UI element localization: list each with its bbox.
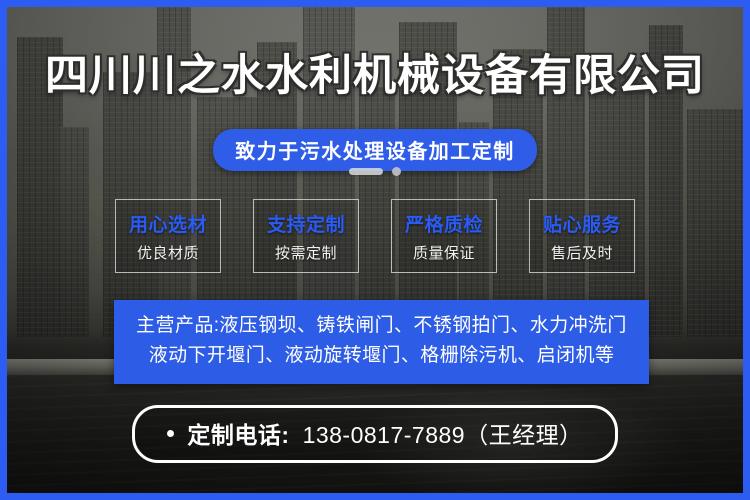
feature-title: 支持定制	[267, 210, 345, 237]
subtitle-container: 致力于污水处理设备加工定制	[7, 129, 743, 171]
carousel-indicator-inactive[interactable]	[392, 167, 401, 176]
contact-container: 定制电话: 138-0817-7889（王经理）	[7, 405, 743, 463]
feature-card-customization: 支持定制 按需定制	[253, 199, 359, 273]
products-line-2: 液动下开堰门、液动旋转堰门、格栅除污机、启闭机等	[120, 341, 643, 371]
products-line-1: 主营产品:液压钢坝、铸铁闸门、不锈钢拍门、水力冲洗门	[120, 311, 643, 341]
contact-label: 定制电话:	[187, 416, 289, 450]
contact-phone-number[interactable]: 138-0817-7889（王经理）	[303, 416, 583, 450]
bullet-dot-icon	[167, 430, 174, 437]
contact-phone-pill[interactable]: 定制电话: 138-0817-7889（王经理）	[132, 405, 617, 463]
promo-banner: 四川川之水水利机械设备有限公司 致力于污水处理设备加工定制 用心选材 优良材质 …	[0, 0, 750, 500]
feature-title: 严格质检	[405, 210, 483, 237]
feature-title: 用心选材	[129, 210, 207, 237]
main-products-banner: 主营产品:液压钢坝、铸铁闸门、不锈钢拍门、水力冲洗门 液动下开堰门、液动旋转堰门…	[114, 300, 649, 384]
feature-subtitle: 按需定制	[275, 242, 337, 263]
carousel-indicators[interactable]	[7, 167, 743, 176]
carousel-indicator-active[interactable]	[349, 168, 383, 175]
company-subtitle-pill: 致力于污水处理设备加工定制	[213, 129, 537, 171]
company-title: 四川川之水水利机械设备有限公司	[7, 41, 743, 103]
feature-title: 贴心服务	[543, 210, 621, 237]
feature-subtitle: 优良材质	[137, 242, 199, 263]
banner-content: 四川川之水水利机械设备有限公司 致力于污水处理设备加工定制 用心选材 优良材质 …	[7, 7, 743, 493]
feature-list: 用心选材 优良材质 支持定制 按需定制 严格质检 质量保证 贴心服务 售后及时	[7, 199, 743, 273]
feature-card-material: 用心选材 优良材质	[115, 199, 221, 273]
feature-subtitle: 售后及时	[551, 242, 613, 263]
feature-subtitle: 质量保证	[413, 242, 475, 263]
feature-card-inspection: 严格质检 质量保证	[391, 199, 497, 273]
feature-card-service: 贴心服务 售后及时	[529, 199, 635, 273]
